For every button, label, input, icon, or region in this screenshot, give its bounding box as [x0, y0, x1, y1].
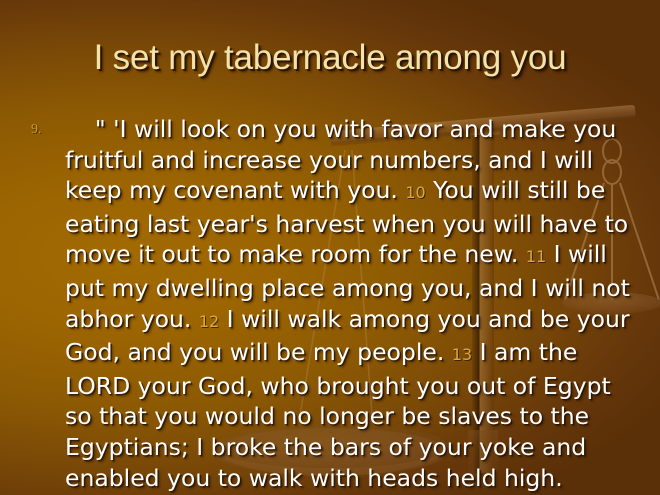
presentation-slide: I set my tabernacle among you 9. " 'I wi…: [0, 0, 660, 495]
verse-number: 10: [405, 183, 425, 202]
list-item-marker: 9.: [31, 114, 65, 137]
scripture-passage-text: " 'I will look on you with favor and mak…: [65, 114, 631, 493]
verse-number: 12: [199, 312, 219, 331]
list-item: 9. " 'I will look on you with favor and …: [31, 114, 631, 493]
verse-number: 13: [452, 345, 472, 364]
slide-title: I set my tabernacle among you: [0, 36, 660, 80]
slide-body: 9. " 'I will look on you with favor and …: [31, 114, 631, 493]
verse-number: 11: [526, 247, 546, 266]
